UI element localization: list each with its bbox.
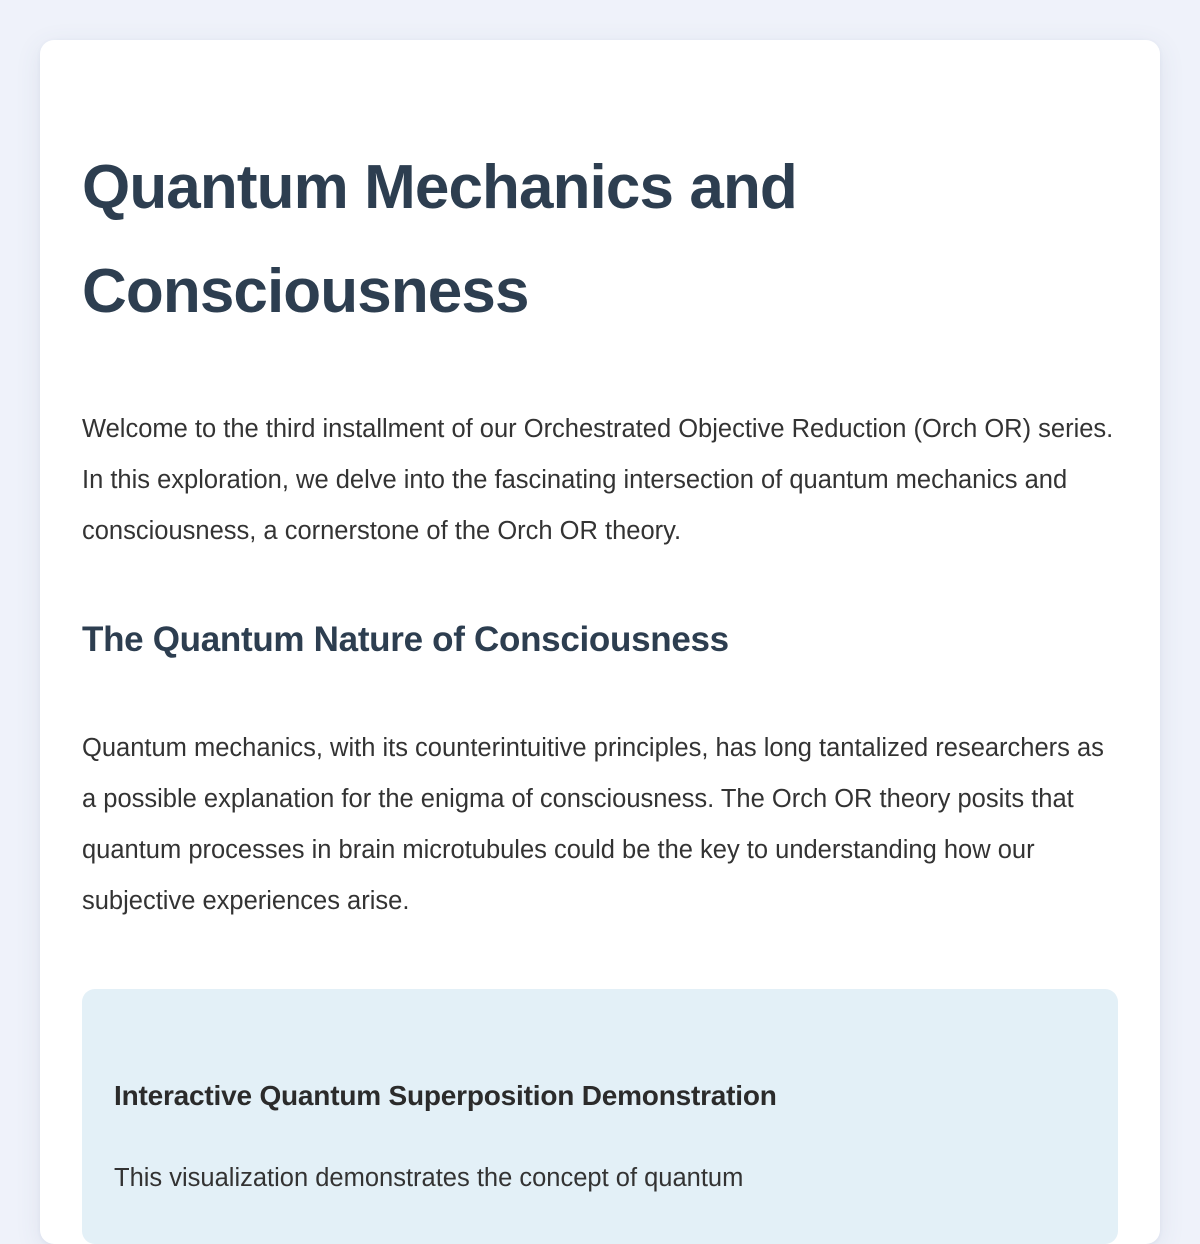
demo-title: Interactive Quantum Superposition Demons…: [114, 1023, 1086, 1113]
article-card: Quantum Mechanics and Consciousness Welc…: [40, 40, 1160, 1244]
section-heading-quantum-nature: The Quantum Nature of Consciousness: [82, 557, 1118, 661]
section-body-paragraph: Quantum mechanics, with its counterintui…: [82, 661, 1118, 927]
interactive-demo-callout: Interactive Quantum Superposition Demons…: [82, 989, 1118, 1244]
intro-paragraph: Welcome to the third installment of our …: [82, 344, 1118, 557]
demo-description: This visualization demonstrates the conc…: [114, 1113, 1086, 1204]
page-title: Quantum Mechanics and Consciousness: [82, 40, 842, 344]
